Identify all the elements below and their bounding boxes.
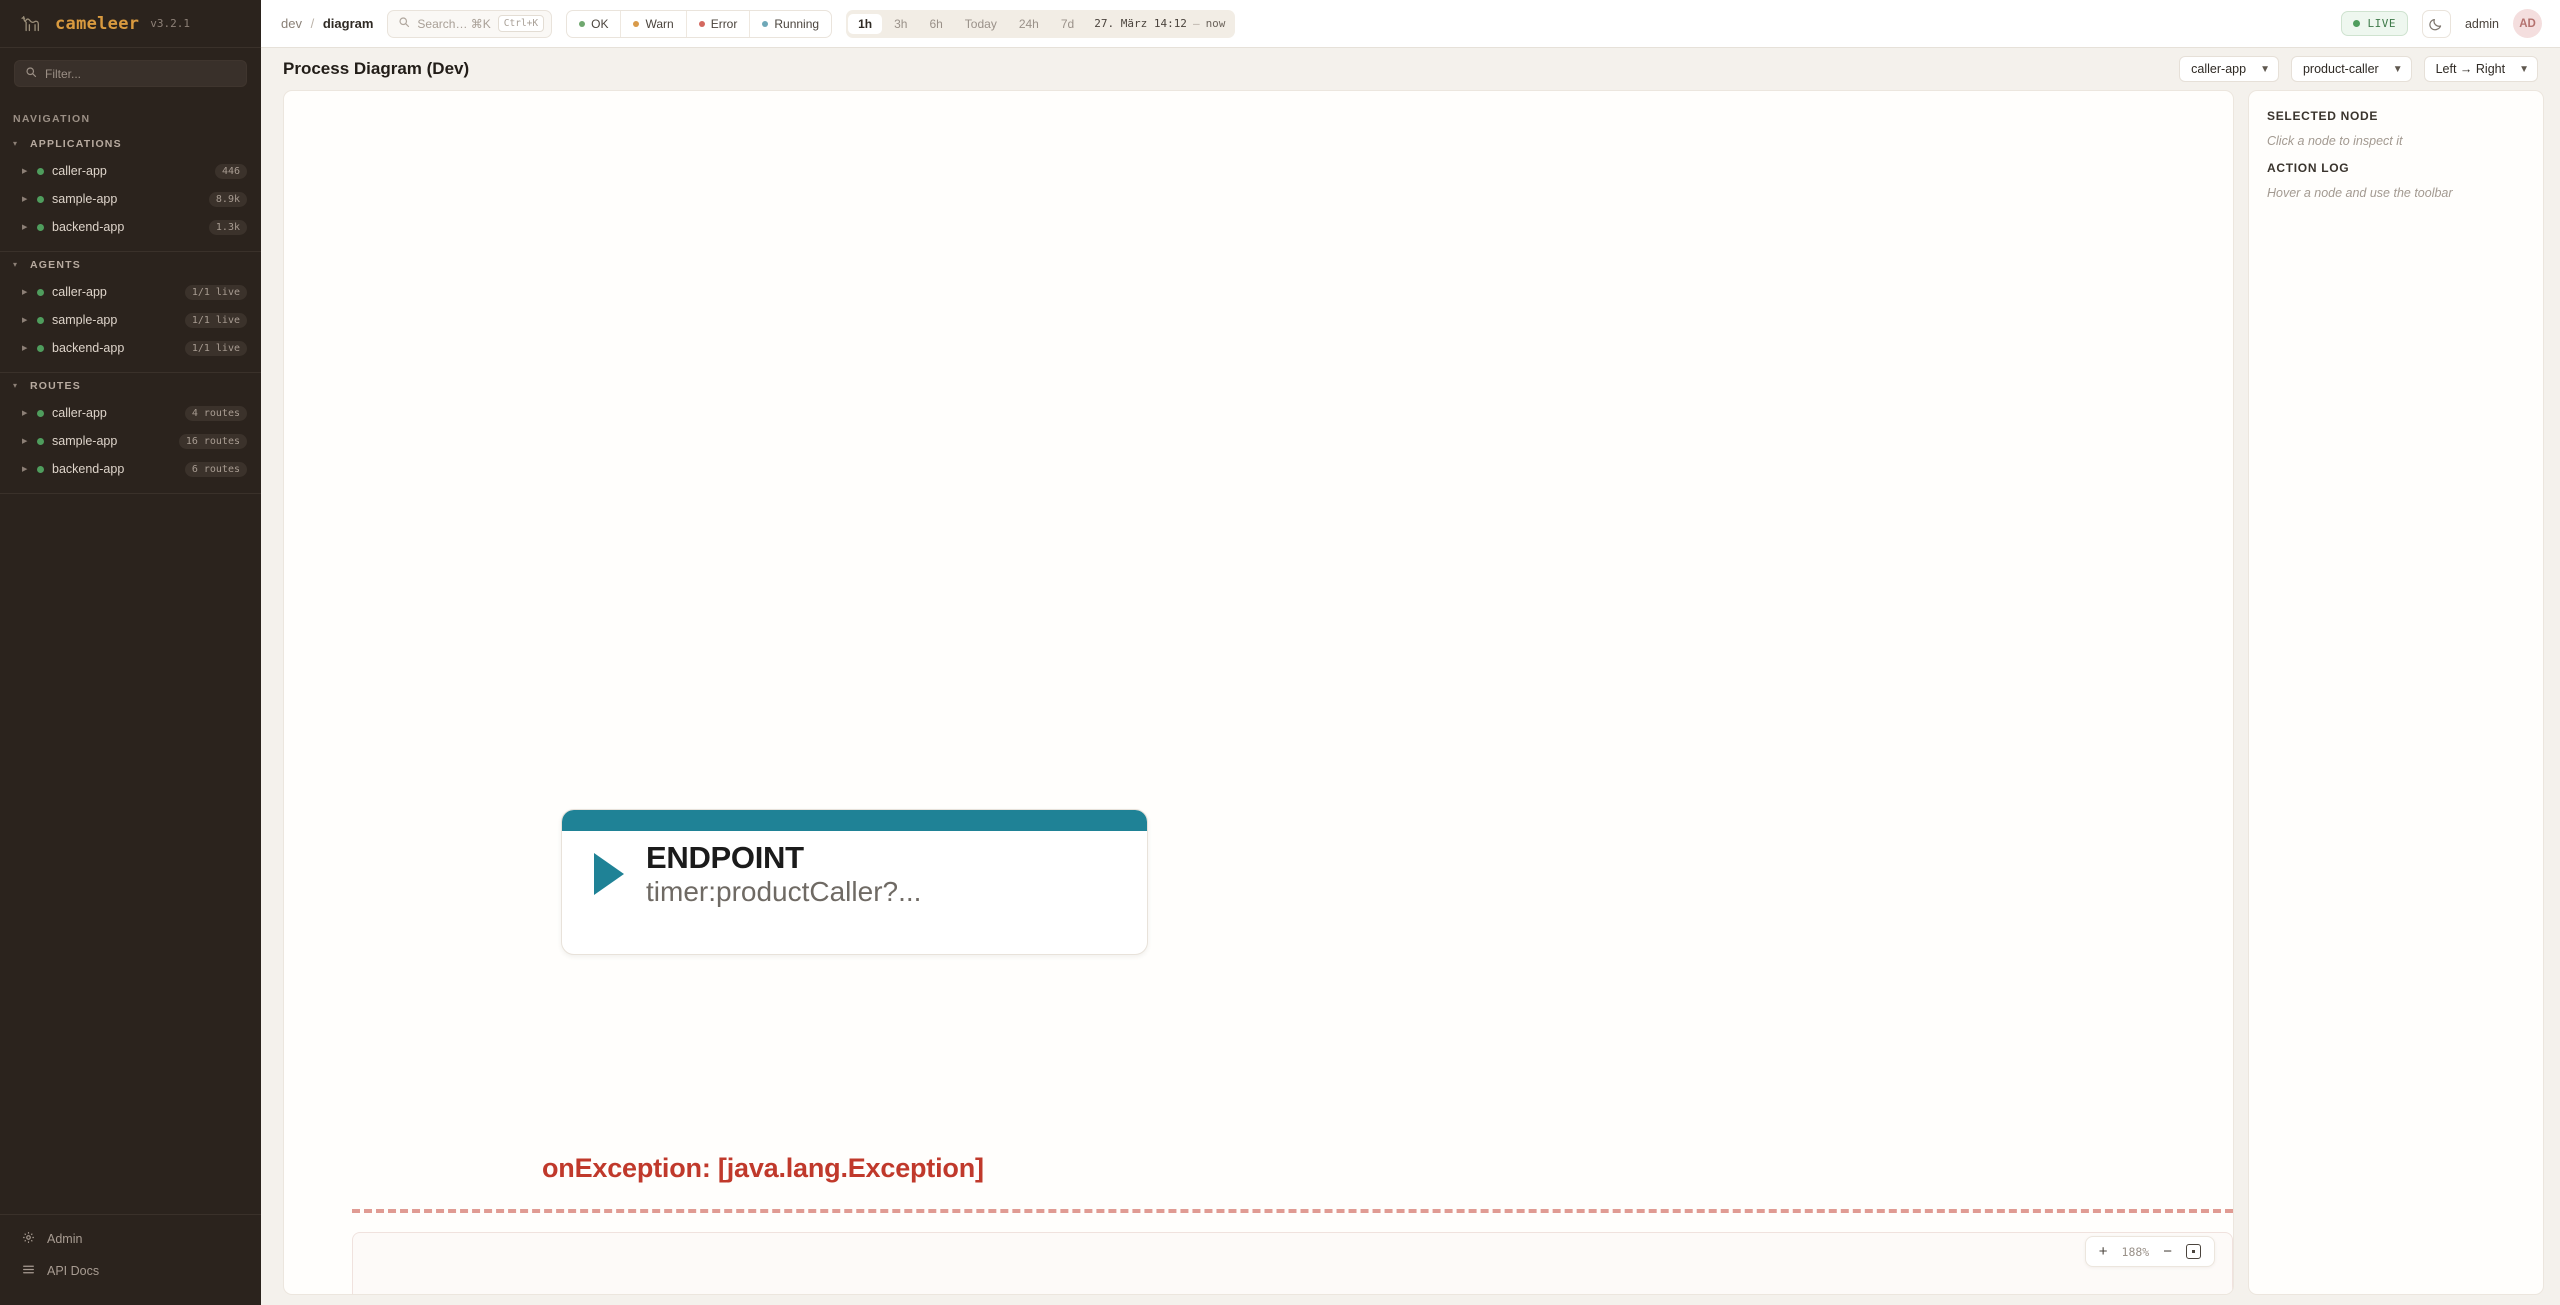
- route-select[interactable]: product-caller ▼: [2291, 56, 2412, 82]
- item-label: caller-app: [52, 406, 177, 420]
- breadcrumb-separator: /: [311, 16, 315, 31]
- search-icon: [398, 15, 410, 33]
- select-value: Left → Right: [2436, 62, 2505, 76]
- status-label: OK: [591, 17, 608, 31]
- status-dot: [37, 289, 44, 296]
- chevron-right-icon: ▶: [22, 289, 29, 296]
- chevron-down-icon: ▼: [2393, 64, 2403, 75]
- status-dot: [37, 224, 44, 231]
- group-label: AGENTS: [30, 259, 81, 271]
- application-select[interactable]: caller-app ▼: [2179, 56, 2279, 82]
- status-filter-group: OK Warn Error Running: [566, 10, 832, 38]
- chevron-down-icon: ▾: [13, 382, 21, 390]
- direction-select[interactable]: Left → Right ▼: [2424, 56, 2538, 82]
- item-label: backend-app: [52, 341, 177, 355]
- brand-version: v3.2.1: [150, 17, 190, 30]
- sidebar-item-routes-caller-app[interactable]: ▶ caller-app 4 routes: [0, 399, 261, 427]
- time-btn-24h[interactable]: 24h: [1009, 14, 1049, 34]
- exception-dashed-divider: [352, 1209, 2233, 1213]
- status-dot-running: [762, 21, 768, 27]
- sidebar-group-agents[interactable]: ▾ AGENTS: [0, 252, 261, 278]
- sidebar: cameleer v3.2.1 NAVIGATION ▾ APPLICATION…: [0, 0, 261, 1305]
- live-dot-icon: [2353, 20, 2360, 27]
- sidebar-item-agents-backend-app[interactable]: ▶ backend-app 1/1 live: [0, 334, 261, 362]
- sidebar-footer: Admin API Docs: [0, 1214, 261, 1305]
- sidebar-item-admin[interactable]: Admin: [0, 1223, 261, 1255]
- zoom-controls: + 188% −: [2085, 1236, 2215, 1267]
- status-dot: [37, 168, 44, 175]
- item-badge: 1/1 live: [185, 285, 247, 300]
- sidebar-item-applications-sample-app[interactable]: ▶ sample-app 8.9k: [0, 185, 261, 213]
- group-label: APPLICATIONS: [30, 138, 122, 150]
- status-label: Running: [774, 17, 819, 31]
- item-label: caller-app: [52, 285, 177, 299]
- api-docs-label: API Docs: [47, 1264, 99, 1278]
- item-badge: 1/1 live: [185, 341, 247, 356]
- item-badge: 1/1 live: [185, 313, 247, 328]
- time-range-start: 27. März 14:12: [1094, 17, 1187, 30]
- breadcrumb-root[interactable]: dev: [281, 16, 302, 31]
- time-btn-7d[interactable]: 7d: [1051, 14, 1084, 34]
- item-badge: 4 routes: [185, 406, 247, 421]
- select-value: caller-app: [2191, 62, 2246, 76]
- node-uri-label: timer:productCaller?...: [646, 876, 921, 907]
- chevron-right-icon: ▶: [22, 438, 29, 445]
- sidebar-item-routes-backend-app[interactable]: ▶ backend-app 6 routes: [0, 455, 261, 483]
- zoom-in-button[interactable]: +: [2099, 1244, 2108, 1259]
- status-filter-error[interactable]: Error: [687, 11, 751, 37]
- item-label: sample-app: [52, 192, 201, 206]
- breadcrumb: dev / diagram: [281, 16, 373, 31]
- user-name: admin: [2465, 17, 2499, 31]
- sidebar-item-applications-caller-app[interactable]: ▶ caller-app 446: [0, 157, 261, 185]
- chevron-right-icon: ▶: [22, 196, 29, 203]
- chevron-down-icon: ▾: [13, 261, 21, 269]
- time-btn-3h[interactable]: 3h: [884, 14, 917, 34]
- status-dot: [37, 345, 44, 352]
- time-range-end: now: [1206, 17, 1226, 30]
- brand-name: cameleer: [55, 14, 139, 34]
- sidebar-group-applications[interactable]: ▾ APPLICATIONS: [0, 131, 261, 157]
- admin-label: Admin: [47, 1232, 82, 1246]
- diagram-node-endpoint[interactable]: ENDPOINT timer:productCaller?...: [561, 809, 1148, 955]
- selected-node-hint: Click a node to inspect it: [2267, 134, 2525, 148]
- time-btn-1h[interactable]: 1h: [848, 14, 882, 34]
- sidebar-group-routes[interactable]: ▾ ROUTES: [0, 373, 261, 399]
- item-label: sample-app: [52, 434, 171, 448]
- group-label: ROUTES: [30, 380, 81, 392]
- status-dot: [37, 410, 44, 417]
- menu-icon: [22, 1263, 35, 1279]
- status-dot: [37, 317, 44, 324]
- exception-region-panel: [352, 1232, 2233, 1294]
- gear-icon: [22, 1231, 35, 1247]
- sidebar-item-routes-sample-app[interactable]: ▶ sample-app 16 routes: [0, 427, 261, 455]
- status-dot-warn: [633, 21, 639, 27]
- moon-icon[interactable]: [2422, 10, 2451, 38]
- topbar: dev / diagram Search… ⌘K Ctrl+K OK: [261, 0, 2560, 48]
- diagram-graph: ENDPOINT timer:productCaller?... onExcep…: [284, 91, 2233, 1294]
- status-dot: [37, 438, 44, 445]
- status-filter-running[interactable]: Running: [750, 11, 831, 37]
- sidebar-item-applications-backend-app[interactable]: ▶ backend-app 1.3k: [0, 213, 261, 241]
- item-label: caller-app: [52, 164, 207, 178]
- chevron-down-icon: ▼: [2260, 64, 2270, 75]
- node-texts: ENDPOINT timer:productCaller?...: [646, 841, 921, 907]
- status-filter-warn[interactable]: Warn: [621, 11, 686, 37]
- filter-box[interactable]: [14, 60, 247, 87]
- item-badge: 16 routes: [179, 434, 247, 449]
- node-header-bar: [562, 810, 1147, 831]
- sidebar-filter: [0, 48, 261, 97]
- app-root: cameleer v3.2.1 NAVIGATION ▾ APPLICATION…: [0, 0, 2560, 1305]
- status-dot: [37, 466, 44, 473]
- live-status-badge[interactable]: LIVE: [2341, 11, 2408, 36]
- fit-to-screen-icon[interactable]: [2186, 1244, 2201, 1259]
- page-header: Process Diagram (Dev) caller-app ▼ produ…: [261, 48, 2560, 90]
- content-area: ENDPOINT timer:productCaller?... onExcep…: [261, 90, 2560, 1305]
- sidebar-item-agents-caller-app[interactable]: ▶ caller-app 1/1 live: [0, 278, 261, 306]
- filter-input[interactable]: [45, 67, 236, 81]
- time-range-display[interactable]: 27. März 14:12—now: [1094, 17, 1225, 30]
- chevron-right-icon: ▶: [22, 168, 29, 175]
- sidebar-nav: NAVIGATION ▾ APPLICATIONS ▶ caller-app 4…: [0, 97, 261, 1214]
- diagram-canvas[interactable]: ENDPOINT timer:productCaller?... onExcep…: [283, 90, 2234, 1295]
- live-label: LIVE: [2367, 17, 2396, 30]
- node-body: ENDPOINT timer:productCaller?...: [562, 831, 1147, 907]
- time-range-group: 1h 3h 6h Today 24h 7d 27. März 14:12—now: [846, 10, 1235, 38]
- status-dot-error: [699, 21, 705, 27]
- main-area: dev / diagram Search… ⌘K Ctrl+K OK: [261, 0, 2560, 1305]
- divider: [0, 493, 261, 494]
- item-badge: 1.3k: [209, 220, 247, 235]
- sidebar-item-agents-sample-app[interactable]: ▶ sample-app 1/1 live: [0, 306, 261, 334]
- item-label: backend-app: [52, 462, 177, 476]
- chevron-down-icon: ▼: [2519, 64, 2529, 75]
- breadcrumb-current: diagram: [323, 16, 374, 31]
- search-placeholder: Search… ⌘K: [417, 17, 490, 31]
- time-range-dash: —: [1193, 17, 1200, 30]
- status-dot-ok: [579, 21, 585, 27]
- brand-logo[interactable]: cameleer v3.2.1: [0, 0, 261, 48]
- status-filter-ok[interactable]: OK: [567, 11, 621, 37]
- item-badge: 8.9k: [209, 192, 247, 207]
- zoom-out-button[interactable]: −: [2163, 1244, 2172, 1259]
- status-dot: [37, 196, 44, 203]
- item-badge: 6 routes: [185, 462, 247, 477]
- time-btn-today[interactable]: Today: [955, 14, 1007, 34]
- exception-handler-label: onException: [java.lang.Exception]: [542, 1153, 984, 1184]
- item-label: backend-app: [52, 220, 201, 234]
- chevron-down-icon: ▾: [13, 140, 21, 148]
- item-label: sample-app: [52, 313, 177, 327]
- page-title: Process Diagram (Dev): [283, 59, 469, 79]
- select-value: product-caller: [2303, 62, 2379, 76]
- status-label: Warn: [645, 17, 673, 31]
- inspector-panel: SELECTED NODE Click a node to inspect it…: [2248, 90, 2544, 1295]
- chevron-right-icon: ▶: [22, 410, 29, 417]
- selected-node-title: SELECTED NODE: [2267, 109, 2525, 123]
- play-icon: [594, 853, 624, 895]
- zoom-level-label: 188%: [2122, 1245, 2150, 1259]
- sidebar-item-api-docs[interactable]: API Docs: [0, 1255, 261, 1287]
- camel-icon: [18, 11, 44, 37]
- node-kind-label: ENDPOINT: [646, 841, 921, 876]
- action-log-hint: Hover a node and use the toolbar: [2267, 186, 2525, 200]
- search-icon: [25, 65, 37, 83]
- nav-section-title: NAVIGATION: [0, 105, 261, 131]
- time-btn-6h[interactable]: 6h: [919, 14, 952, 34]
- chevron-right-icon: ▶: [22, 466, 29, 473]
- chevron-right-icon: ▶: [22, 224, 29, 231]
- status-label: Error: [711, 17, 738, 31]
- search-shortcut-badge: Ctrl+K: [498, 15, 544, 32]
- item-badge: 446: [215, 164, 247, 179]
- action-log-title: ACTION LOG: [2267, 161, 2525, 175]
- avatar[interactable]: AD: [2513, 9, 2542, 38]
- chevron-right-icon: ▶: [22, 317, 29, 324]
- chevron-right-icon: ▶: [22, 345, 29, 352]
- search-input[interactable]: Search… ⌘K Ctrl+K: [387, 10, 552, 38]
